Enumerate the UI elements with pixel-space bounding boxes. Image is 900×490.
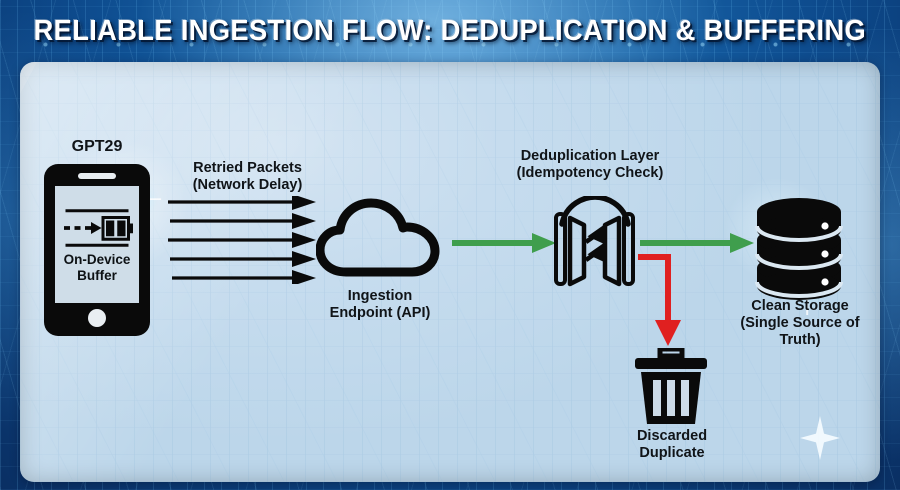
diagram-canvas: RELIABLE INGESTION FLOW: DEDUPLICATION &… — [0, 0, 900, 490]
storage-label: Clean Storage (Single Source of Truth) — [720, 298, 880, 349]
page-title: RELIABLE INGESTION FLOW: DEDUPLICATION &… — [34, 15, 867, 48]
flow-arrow-dedup-to-storage — [640, 232, 756, 254]
flow-arrow-ingestion-to-dedup — [452, 232, 558, 254]
phone-speaker — [78, 173, 116, 179]
gate-filter-icon[interactable] — [548, 196, 640, 288]
phone-home-button[interactable] — [88, 309, 106, 327]
device-title: GPT29 — [44, 138, 150, 155]
dedup-label: Deduplication Layer (Idempotency Check) — [492, 148, 688, 182]
retried-packets-label: Retried Packets (Network Delay) — [160, 160, 335, 194]
title-bar: RELIABLE INGESTION FLOW: DEDUPLICATION &… — [0, 0, 900, 62]
battery-buffer-icon — [58, 206, 136, 250]
trash-can-icon[interactable] — [634, 348, 708, 426]
retried-packets-arrows — [168, 196, 324, 284]
phone-screen: On-Device Buffer — [55, 186, 139, 303]
cloud-icon[interactable] — [316, 198, 444, 278]
discard-label: Discarded Duplicate — [600, 428, 744, 462]
ingestion-label: Ingestion Endpoint (API) — [310, 288, 450, 322]
device-screen-label: On-Device Buffer — [55, 252, 139, 284]
smartphone-icon[interactable]: On-Device Buffer — [44, 164, 150, 336]
database-icon[interactable] — [754, 196, 844, 300]
flow-arrow-dedup-to-discard — [636, 252, 700, 352]
